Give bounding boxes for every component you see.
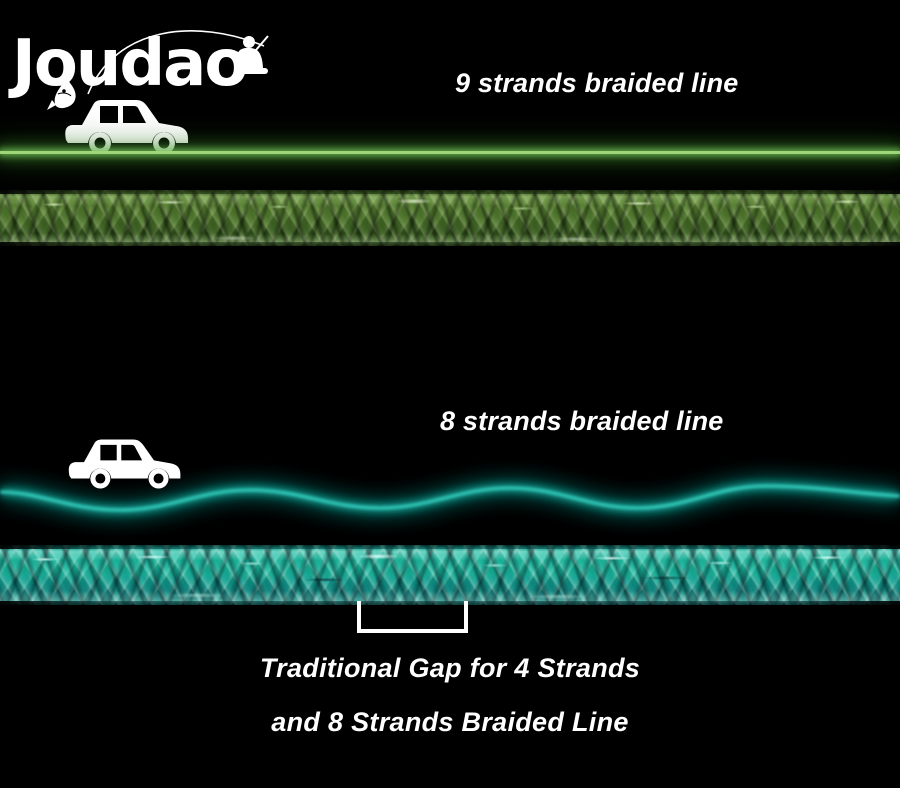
product-banner: Joudao 9 strands braided line — [0, 0, 900, 788]
brand-logo[interactable]: Joudao — [8, 14, 358, 134]
rope-edge-bottom — [0, 242, 900, 246]
suv-car-icon-road — [64, 430, 184, 498]
caption-block: Traditional Gap for 4 Strands and 8 Stra… — [0, 655, 900, 736]
rope-9-strand-green — [0, 190, 900, 246]
label-8-strands-braided-line: 8 strands braided line — [440, 406, 723, 437]
rope-edge-top — [0, 190, 900, 194]
rope-highlight-layer — [0, 545, 900, 605]
angler-icon — [230, 34, 272, 82]
rope-edge-top — [0, 545, 900, 549]
green-glow-core — [0, 151, 900, 154]
caption-line-1: Traditional Gap for 4 Strands — [0, 655, 900, 682]
brand-wordmark: Joudao — [12, 32, 246, 96]
rope-8-strand-teal — [0, 545, 900, 605]
gap-bracket-icon — [355, 600, 470, 638]
rope-highlight-layer — [0, 190, 900, 246]
label-9-strands-braided-line: 9 strands braided line — [455, 68, 738, 99]
caption-line-2: and 8 Strands Braided Line — [0, 709, 900, 736]
green-glow-line — [0, 146, 900, 160]
